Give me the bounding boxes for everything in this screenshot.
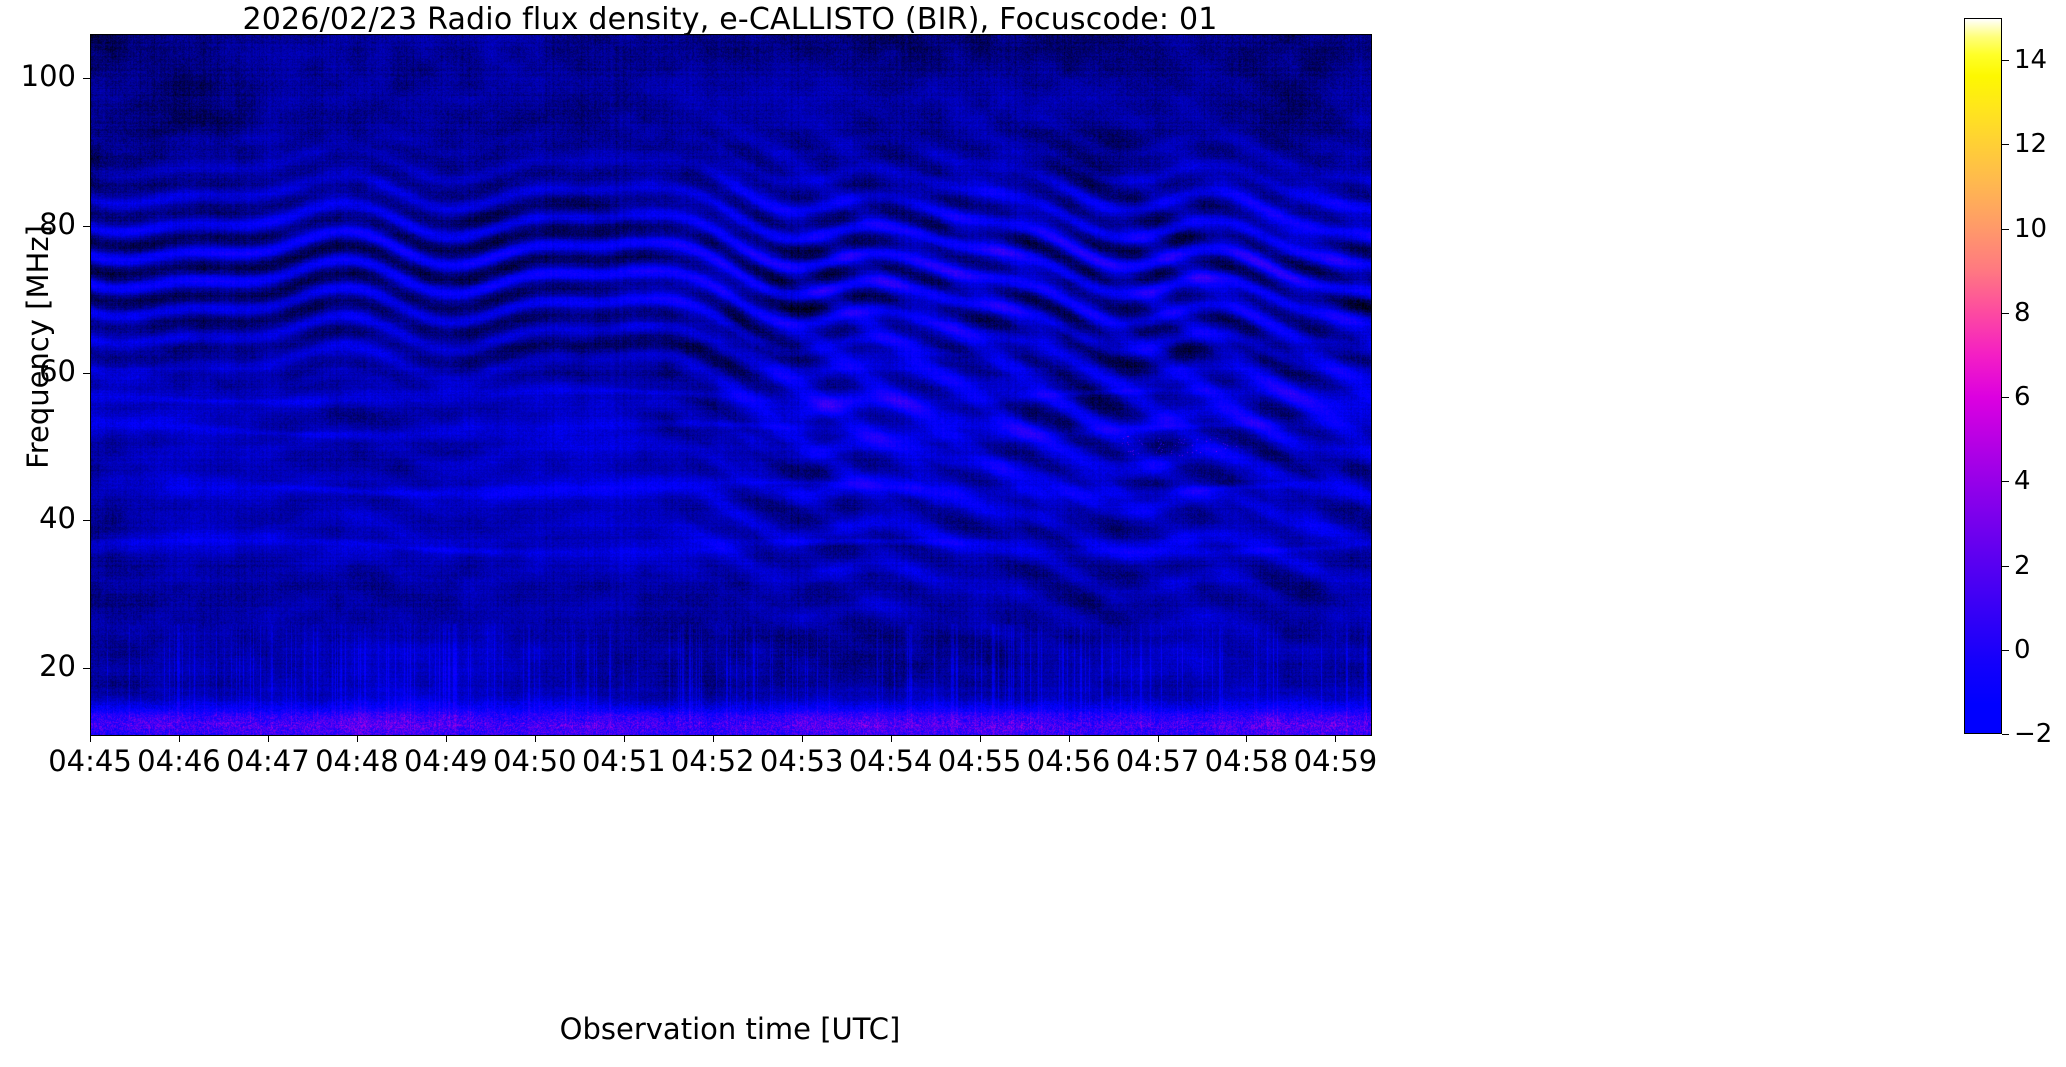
y-tick-label: 60	[0, 354, 76, 388]
colorbar-tick-mark	[2002, 397, 2009, 398]
x-tick-mark	[535, 735, 536, 742]
x-tick-label: 04:47	[226, 744, 310, 778]
x-tick-label: 04:45	[48, 744, 132, 778]
x-tick-mark	[624, 735, 625, 742]
x-tick-label: 04:52	[671, 744, 755, 778]
x-tick-label: 04:57	[1116, 744, 1200, 778]
x-tick-label: 04:50	[493, 744, 577, 778]
x-tick-mark	[802, 735, 803, 742]
colorbar-tick-mark	[2002, 481, 2009, 482]
x-tick-label: 04:48	[315, 744, 399, 778]
y-tick-label: 80	[0, 207, 76, 241]
colorbar[interactable]: −202468101214	[1964, 18, 2002, 734]
x-tick-label: 04:56	[1027, 744, 1111, 778]
x-tick-label: 04:49	[404, 744, 488, 778]
x-tick-mark	[980, 735, 981, 742]
colorbar-tick-mark	[2002, 144, 2009, 145]
x-tick-mark	[179, 735, 180, 742]
x-tick-label: 04:58	[1205, 744, 1289, 778]
y-tick-label: 100	[0, 59, 76, 93]
x-tick-mark	[1069, 735, 1070, 742]
x-tick-label: 04:55	[938, 744, 1022, 778]
y-tick-mark	[83, 373, 90, 374]
colorbar-tick-mark	[2002, 313, 2009, 314]
colorbar-gradient	[1964, 18, 2002, 734]
x-tick-label: 04:59	[1294, 744, 1378, 778]
x-tick-label: 04:46	[137, 744, 221, 778]
colorbar-tick-label: −2	[2014, 719, 2052, 749]
y-tick-label: 40	[0, 501, 76, 535]
figure-title: 2026/02/23 Radio flux density, e-CALLIST…	[90, 2, 1370, 37]
colorbar-tick-label: 4	[2014, 466, 2031, 496]
x-tick-mark	[891, 735, 892, 742]
figure-canvas: 2026/02/23 Radio flux density, e-CALLIST…	[0, 0, 2066, 1067]
colorbar-tick-label: 6	[2014, 382, 2031, 412]
x-tick-mark	[446, 735, 447, 742]
x-tick-mark	[1158, 735, 1159, 742]
x-tick-label: 04:51	[582, 744, 666, 778]
spectrogram-image	[91, 35, 1371, 735]
colorbar-tick-label: 2	[2014, 551, 2031, 581]
y-tick-label: 20	[0, 649, 76, 683]
x-tick-mark	[90, 735, 91, 742]
colorbar-tick-mark	[2002, 650, 2009, 651]
colorbar-tick-label: 10	[2014, 214, 2047, 244]
spectrogram-axes[interactable]	[90, 34, 1372, 736]
colorbar-tick-label: 12	[2014, 129, 2047, 159]
x-tick-mark	[1335, 735, 1336, 742]
x-tick-mark	[357, 735, 358, 742]
x-tick-label: 04:54	[849, 744, 933, 778]
colorbar-tick-mark	[2002, 566, 2009, 567]
colorbar-tick-mark	[2002, 734, 2009, 735]
colorbar-tick-label: 8	[2014, 298, 2031, 328]
x-tick-mark	[713, 735, 714, 742]
x-tick-mark	[1246, 735, 1247, 742]
colorbar-tick-label: 14	[2014, 45, 2047, 75]
colorbar-tick-mark	[2002, 229, 2009, 230]
x-tick-mark	[268, 735, 269, 742]
y-tick-mark	[83, 520, 90, 521]
y-tick-mark	[83, 668, 90, 669]
colorbar-tick-mark	[2002, 60, 2009, 61]
colorbar-tick-label: 0	[2014, 635, 2031, 665]
y-tick-mark	[83, 226, 90, 227]
x-axis-label: Observation time [UTC]	[90, 1012, 1370, 1046]
y-tick-mark	[83, 78, 90, 79]
x-tick-label: 04:53	[760, 744, 844, 778]
